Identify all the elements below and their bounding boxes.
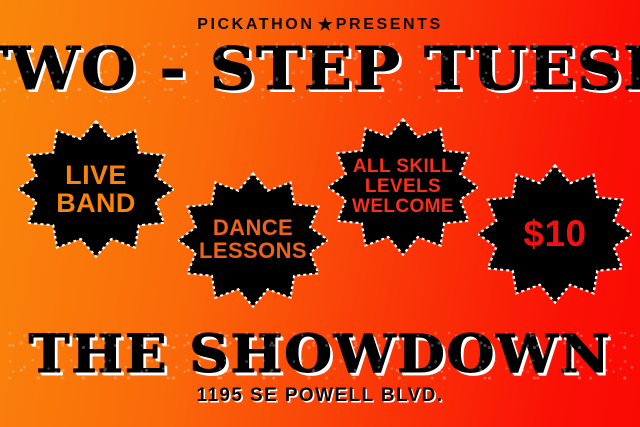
poster-venue-title: THE SHOWDOWN <box>0 325 640 384</box>
badge-price: $10 <box>478 164 632 304</box>
badge-live-band-label: LIVE BAND <box>56 161 136 217</box>
presenter-line: PICKATHON★PRESENTS <box>0 14 640 35</box>
badge-live-band: LIVE BAND <box>18 120 174 258</box>
poster-address: 1195 SE POWELL BLVD. <box>0 384 640 407</box>
badge-price-label: $10 <box>523 215 586 253</box>
presenter-post-text: PRESENTS <box>336 16 443 33</box>
poster-main-title: TWO - STEP TUESDAY <box>0 36 640 102</box>
badge-all-skill-levels: ALL SKILL LEVELS WELCOME <box>328 118 478 256</box>
badge-dance-lessons: DANCE LESSONS <box>178 172 328 308</box>
star-icon: ★ <box>318 15 333 35</box>
badge-dance-lessons-label: DANCE LESSONS <box>199 217 307 263</box>
presenter-pre-text: PICKATHON <box>197 16 314 33</box>
badge-all-skill-levels-label: ALL SKILL LEVELS WELCOME <box>352 157 454 216</box>
poster-venue-title-text: THE SHOWDOWN <box>29 323 612 385</box>
event-poster: PICKATHON★PRESENTS TWO - STEP TUESDAY LI… <box>0 0 640 427</box>
poster-main-title-text: TWO - STEP TUESDAY <box>0 34 640 104</box>
